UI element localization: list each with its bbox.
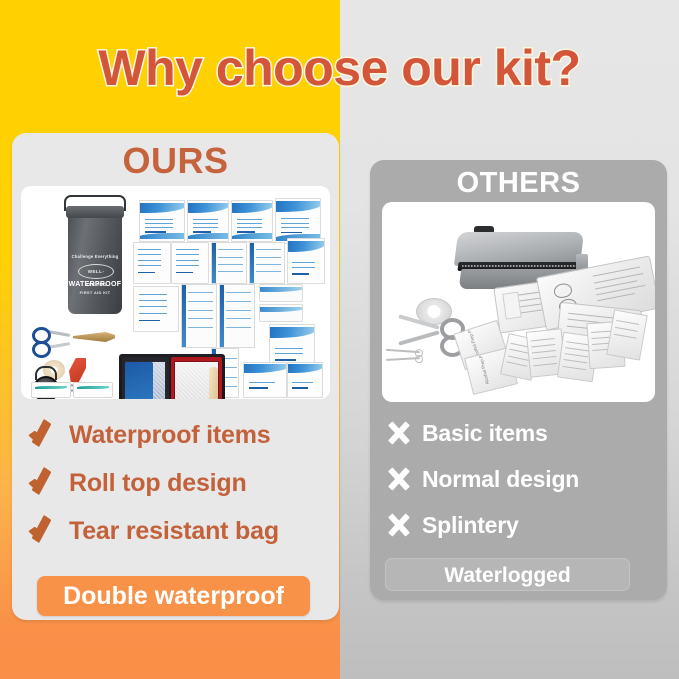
others-feature-label: Basic items — [422, 420, 548, 447]
check-icon — [28, 516, 60, 546]
ours-feature-label: Roll top design — [69, 469, 247, 498]
others-feature-row: Normal design — [386, 460, 666, 498]
adhesive-bandage-strip — [219, 284, 255, 348]
instruction-sheet — [606, 309, 647, 360]
bandage-packet — [31, 382, 71, 398]
others-card: OTHERS — [370, 160, 667, 600]
bag-tagline: Challenge Everything — [68, 254, 122, 259]
supply-packet — [231, 200, 273, 242]
ours-feature-row: Waterproof items — [28, 415, 328, 455]
ours-feature-label: Tear resistant bag — [69, 517, 279, 546]
supply-packet — [133, 242, 171, 284]
ours-product-photo: Challenge Everything WELL-STRONG WATERPR… — [21, 186, 330, 399]
ours-feature-row: Roll top design — [28, 463, 328, 503]
comparison-infographic: Why choose our kit? OURS Challenge Every… — [0, 0, 679, 679]
others-feature-row: Splintery — [386, 506, 666, 544]
bag-label-firstaid: FIRST AID KIT — [68, 290, 122, 295]
bandage-packet — [73, 382, 113, 398]
ours-card-title: OURS — [12, 139, 339, 183]
cross-icon — [386, 420, 412, 446]
whistle-image — [69, 358, 86, 382]
supply-packet — [243, 362, 287, 398]
ours-feature-row: Tear resistant bag — [28, 511, 328, 551]
ours-feature-label: Waterproof items — [69, 421, 270, 450]
gauze-pad — [259, 284, 303, 302]
others-feature-label: Normal design — [422, 466, 579, 493]
supply-packet — [287, 238, 325, 284]
ours-card: OURS Challenge Everything WELL-STRONG WA… — [12, 133, 339, 620]
tweezers-image — [73, 332, 115, 342]
supply-packet — [139, 200, 185, 242]
gauze-pad — [259, 304, 303, 322]
others-feature-row: Basic items — [386, 414, 666, 452]
adhesive-bandage-strip — [211, 242, 247, 284]
safety-pins-image — [386, 348, 430, 366]
others-photo-stage: Alcohol Prep Pad Alcohol Prep Pad — [382, 202, 655, 402]
supply-packet — [171, 242, 209, 284]
page-title: Why choose our kit? — [0, 36, 679, 100]
cross-icon — [386, 466, 412, 492]
inner-case-contents — [125, 362, 153, 399]
check-icon — [28, 468, 60, 498]
check-icon — [28, 420, 60, 450]
scissors-icon — [31, 328, 71, 354]
others-feature-label: Splintery — [422, 512, 519, 539]
cross-icon — [386, 512, 412, 538]
supply-packet — [187, 200, 229, 242]
ours-highlight-pill: Double waterproof — [37, 576, 310, 616]
others-highlight-pill: Waterlogged — [385, 558, 630, 591]
supply-packet — [287, 362, 323, 398]
bag-brand-badge: WELL-STRONG — [78, 264, 114, 279]
bag-label-waterproof: WATERPROOF — [68, 281, 122, 288]
roll-top-closure — [66, 206, 124, 218]
dry-bag-image: Challenge Everything WELL-STRONG WATERPR… — [68, 208, 122, 314]
alcohol-prep-pad-label: Alcohol Prep Pad — [477, 350, 490, 385]
supply-packet — [133, 286, 179, 332]
ours-photo-stage: Challenge Everything WELL-STRONG WATERPR… — [21, 186, 330, 399]
others-product-photo: Alcohol Prep Pad Alcohol Prep Pad — [382, 202, 655, 402]
adhesive-bandage-strip — [181, 284, 217, 348]
others-card-title: OTHERS — [370, 164, 667, 202]
adhesive-bandage-strip — [249, 242, 285, 284]
